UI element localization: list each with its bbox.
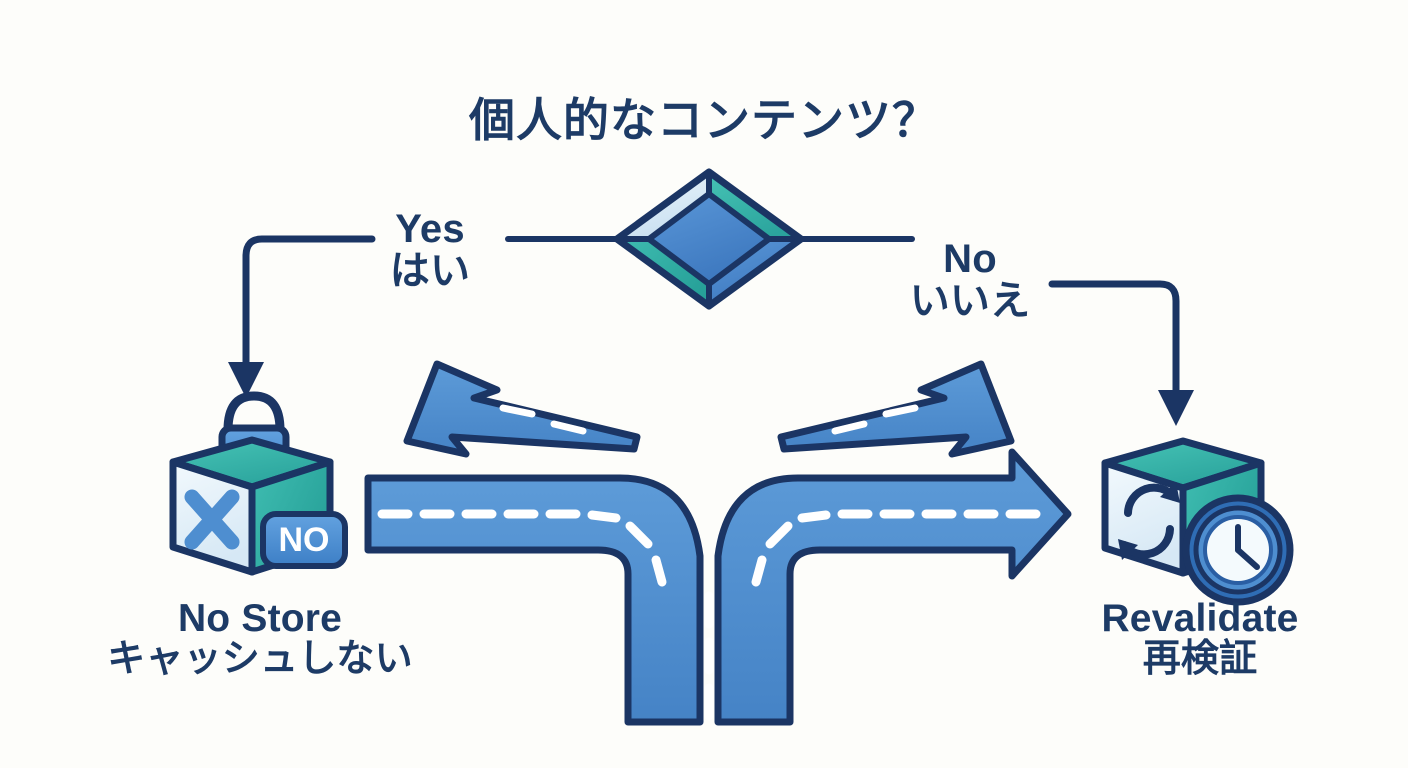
fork-road-right-branch xyxy=(718,452,1068,722)
branch-label-no: No いいえ xyxy=(840,238,1100,323)
diagram-canvas: NO 個人的なコンテンツ？ xyxy=(0,0,1408,768)
locked-box-no-icon[interactable]: NO xyxy=(173,396,345,572)
outcome-revalidate-en: Revalidate xyxy=(1000,598,1400,639)
branch-no-ja: いいえ xyxy=(840,280,1100,322)
y-fork-road xyxy=(368,452,1068,722)
outcome-revalidate-ja: 再検証 xyxy=(1000,639,1400,679)
diagonal-arrow-up-left xyxy=(407,364,637,454)
branch-yes-en: Yes xyxy=(300,208,560,250)
diagonal-arrow-up-right xyxy=(781,364,1011,454)
branch-no-en: No xyxy=(840,238,1100,280)
page-title: 個人的なコンテンツ？ xyxy=(0,96,1408,145)
outcome-no-store-ja: キャッシュしない xyxy=(50,639,470,679)
branch-label-yes: Yes はい xyxy=(300,208,560,293)
branch-yes-ja: はい xyxy=(300,250,560,292)
outcome-label-no-store: No Store キャッシュしない xyxy=(50,598,470,680)
no-badge-label: NO xyxy=(279,521,330,559)
outcome-no-store-en: No Store xyxy=(50,598,470,639)
outcome-label-revalidate: Revalidate 再検証 xyxy=(1000,598,1400,680)
sync-box-clock-icon[interactable] xyxy=(1105,441,1290,602)
